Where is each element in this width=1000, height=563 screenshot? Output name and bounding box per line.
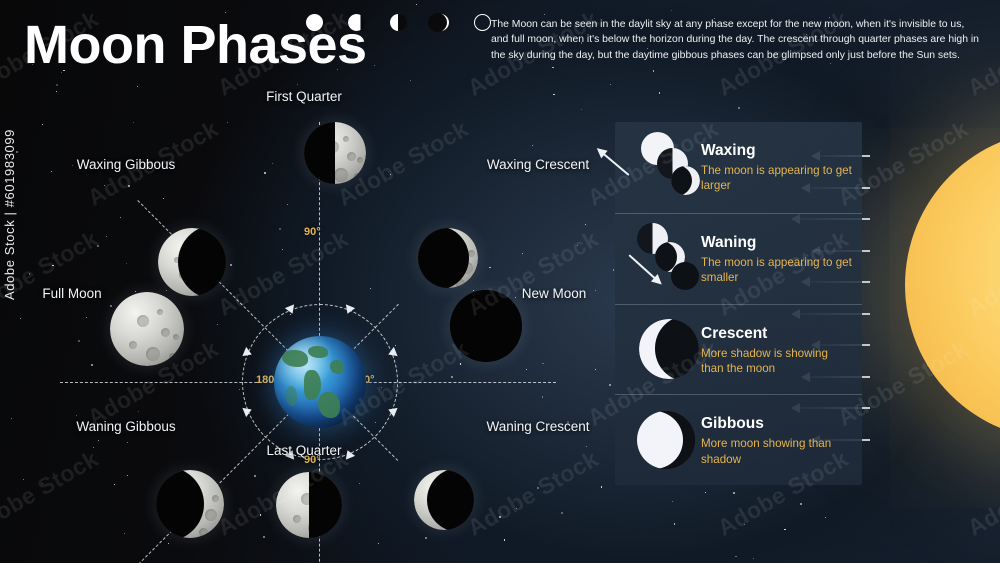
phase-label-waning-gibbous: Waning Gibbous bbox=[56, 418, 196, 435]
phase-label-waxing-crescent: Waxing Crescent bbox=[468, 156, 608, 173]
landmass bbox=[304, 370, 321, 400]
infographic-canvas: Moon Phases The Moon can be seen in the … bbox=[0, 0, 1000, 563]
legend-title: Crescent bbox=[701, 325, 767, 343]
star bbox=[738, 107, 740, 109]
gibbous-icon bbox=[627, 403, 697, 477]
star bbox=[800, 503, 802, 505]
star bbox=[544, 14, 545, 15]
star bbox=[552, 67, 553, 68]
legend-row-gibbous[interactable]: Gibbous More moon showing than shadow bbox=[615, 394, 862, 485]
landmass bbox=[318, 392, 340, 418]
watermark-text: Adobe Stock bbox=[963, 445, 1000, 541]
waxing-sequence-icon bbox=[627, 130, 697, 204]
legend-row-crescent[interactable]: Crescent More shadow is showing than the… bbox=[615, 304, 862, 395]
star bbox=[735, 556, 736, 557]
star bbox=[601, 486, 602, 487]
moon-first-quarter bbox=[304, 122, 366, 184]
moon-gibbous-large bbox=[637, 411, 695, 469]
watermark-text: Adobe Stock bbox=[333, 555, 473, 563]
new-moon-icon bbox=[474, 14, 491, 31]
moon-full-moon bbox=[110, 292, 184, 366]
stock-credit: Adobe Stock | #601983099 bbox=[2, 129, 17, 300]
legend-row-waning[interactable]: Waning The moon is appearing to get smal… bbox=[615, 213, 862, 304]
moon-waning-gibbous bbox=[156, 470, 224, 538]
degree-label-top: 90° bbox=[304, 226, 321, 238]
star bbox=[672, 501, 673, 502]
full-moon-icon bbox=[306, 14, 323, 31]
phase-label-first-quarter: First Quarter bbox=[224, 88, 384, 105]
earth bbox=[274, 336, 366, 428]
legend-row-waxing[interactable]: Waxing The moon is appearing to get larg… bbox=[615, 122, 862, 213]
star bbox=[610, 84, 611, 85]
star bbox=[705, 492, 706, 493]
legend-title: Waxing bbox=[701, 142, 756, 160]
moon-new-small bbox=[671, 262, 699, 290]
legend-title: Gibbous bbox=[701, 415, 764, 433]
watermark-text: Adobe Stock bbox=[833, 555, 973, 563]
craters bbox=[110, 292, 184, 366]
moon-last-quarter bbox=[276, 472, 342, 538]
watermark-text: Adobe Stock bbox=[583, 555, 723, 563]
star bbox=[609, 384, 611, 386]
star bbox=[825, 517, 826, 518]
star bbox=[784, 529, 785, 530]
waning-gibbous-icon bbox=[348, 14, 365, 31]
star bbox=[671, 10, 672, 11]
landmass bbox=[330, 360, 344, 374]
waning-sequence-icon bbox=[627, 222, 697, 296]
star bbox=[225, 12, 226, 13]
phase-label-new-moon: New Moon bbox=[506, 285, 602, 302]
waning-crescent-icon bbox=[432, 14, 449, 31]
star bbox=[674, 523, 675, 524]
legend-description: The moon is appearing to get smaller bbox=[701, 255, 853, 286]
legend-description: More moon showing than shadow bbox=[701, 436, 853, 467]
star bbox=[11, 418, 12, 419]
phase-label-last-quarter: Last Quarter bbox=[224, 442, 384, 459]
moon-waxing-gibbous bbox=[158, 228, 226, 296]
star bbox=[753, 558, 754, 559]
waning-half-icon bbox=[390, 14, 407, 31]
moon-crescent-large bbox=[639, 319, 699, 379]
star bbox=[744, 524, 745, 525]
landmass bbox=[282, 350, 308, 367]
star bbox=[733, 492, 734, 493]
star bbox=[830, 63, 831, 64]
phase-label-waxing-gibbous: Waxing Gibbous bbox=[56, 156, 196, 173]
phase-label-full-moon: Full Moon bbox=[26, 285, 118, 302]
legend-description: The moon is appearing to get larger bbox=[701, 163, 853, 194]
watermark-text: Adobe Stock bbox=[83, 555, 223, 563]
orbit-arrow bbox=[387, 347, 398, 359]
star bbox=[613, 269, 614, 270]
phase-label-waning-crescent: Waning Crescent bbox=[468, 418, 608, 435]
crescent-icon bbox=[627, 313, 697, 387]
star bbox=[653, 70, 654, 71]
sun bbox=[905, 130, 1000, 440]
legend-panel: Waxing The moon is appearing to get larg… bbox=[615, 122, 862, 485]
star bbox=[416, 4, 417, 5]
moon-crescent-small bbox=[671, 166, 700, 195]
landmass bbox=[286, 386, 297, 406]
moon-phase-orbit-diagram: 90° 0° 90° 180° First QuarterWaxing Gib bbox=[18, 80, 598, 550]
legend-title: Waning bbox=[701, 234, 756, 252]
intro-paragraph: The Moon can be seen in the daylit sky a… bbox=[491, 17, 981, 63]
legend-description: More shadow is showing than the moon bbox=[701, 346, 853, 377]
moon-waning-crescent bbox=[414, 470, 474, 530]
star bbox=[659, 92, 660, 93]
moon-waxing-crescent bbox=[418, 228, 478, 288]
star bbox=[374, 65, 375, 66]
landmass bbox=[308, 346, 328, 358]
